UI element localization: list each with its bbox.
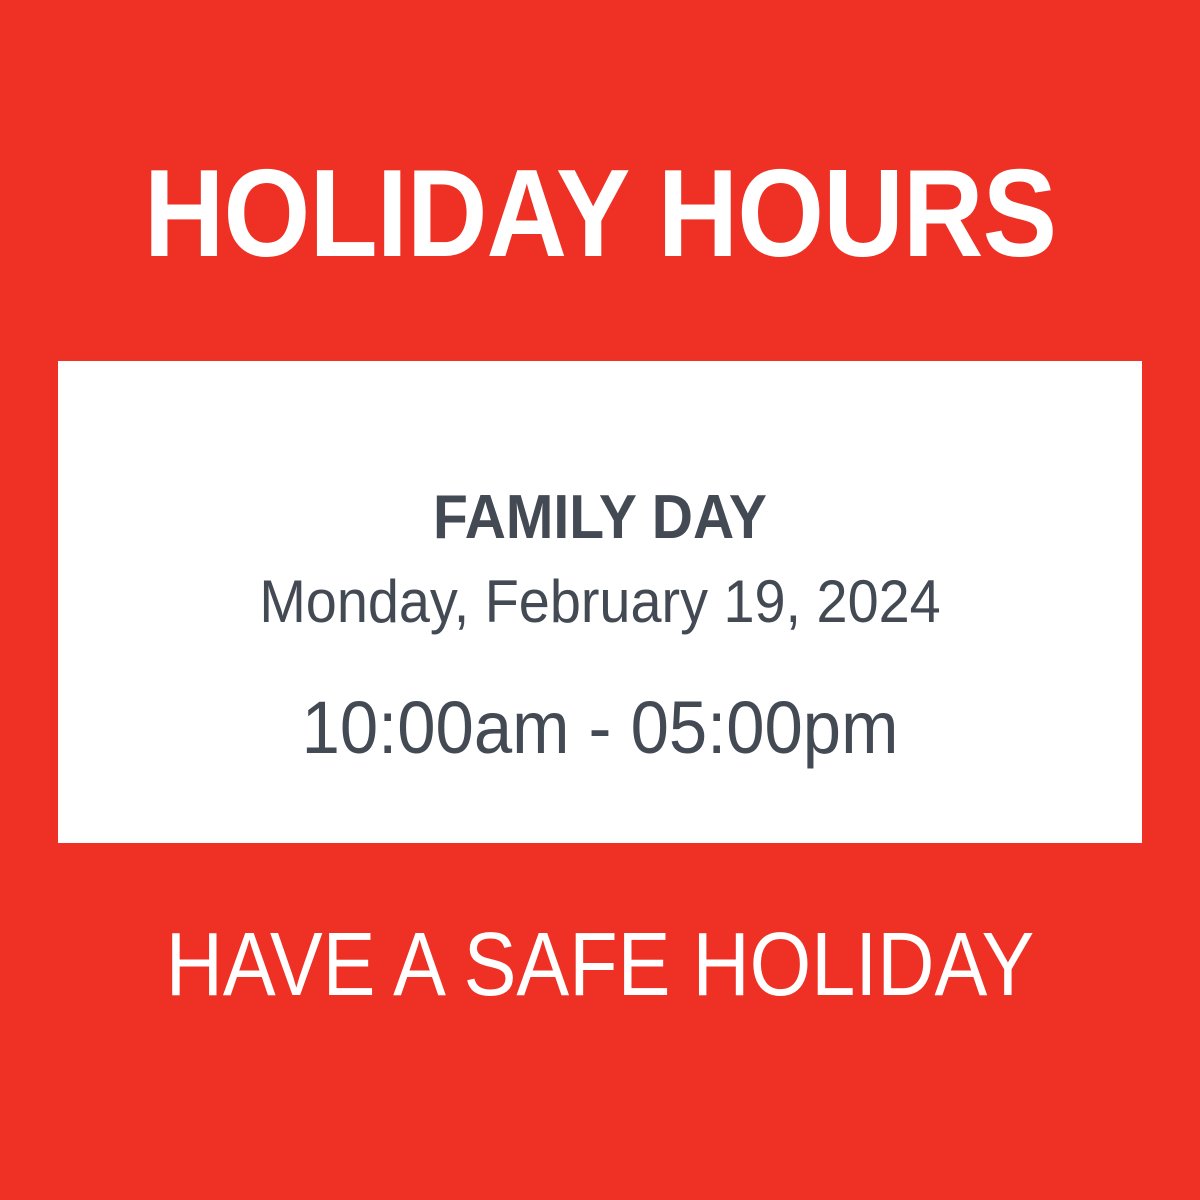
page-title: HOLIDAY HOURS: [60, 152, 1140, 276]
holiday-info-card-content: FAMILY DAY Monday, February 19, 2024 10:…: [58, 361, 1142, 843]
holiday-hours-poster: HOLIDAY HOURS FAMILY DAY Monday, Februar…: [0, 0, 1200, 1200]
holiday-name: FAMILY DAY: [101, 487, 1098, 549]
holiday-info-card: FAMILY DAY Monday, February 19, 2024 10:…: [58, 361, 1142, 843]
footer-message: HAVE A SAFE HOLIDAY: [72, 920, 1128, 1010]
holiday-hours: 10:00am - 05:00pm: [96, 691, 1104, 765]
holiday-date: Monday, February 19, 2024: [96, 572, 1104, 632]
